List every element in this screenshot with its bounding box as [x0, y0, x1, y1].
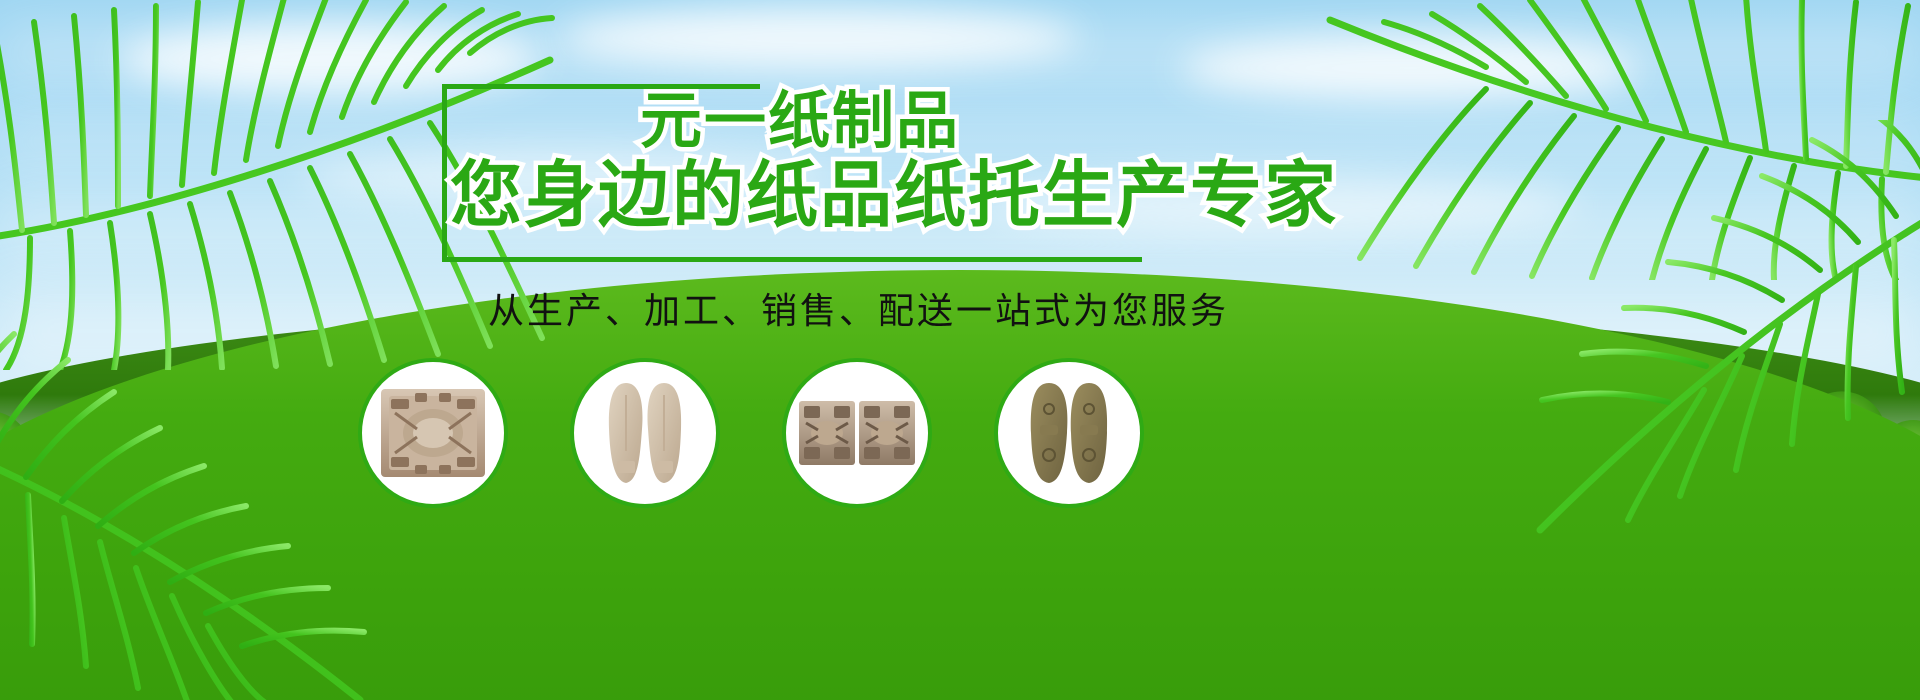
product-circle-3[interactable] [782, 358, 932, 508]
product-circle-1[interactable] [358, 358, 508, 508]
product-circle-2[interactable] [570, 358, 720, 508]
product-circle-row [0, 0, 1920, 700]
product-circle-4[interactable] [994, 358, 1144, 508]
paper-pulp-shoe-trees-light-icon [604, 377, 686, 489]
square-paper-pulp-tray-icon [379, 387, 487, 479]
paper-pulp-packaging-pair-icon [798, 397, 916, 469]
paper-pulp-shoe-trees-dark-icon [1025, 379, 1113, 487]
promotional-banner: 元一纸制品 您身边的纸品纸托生产专家 从生产、加工、销售、配送一站式为您服务 [0, 0, 1920, 700]
